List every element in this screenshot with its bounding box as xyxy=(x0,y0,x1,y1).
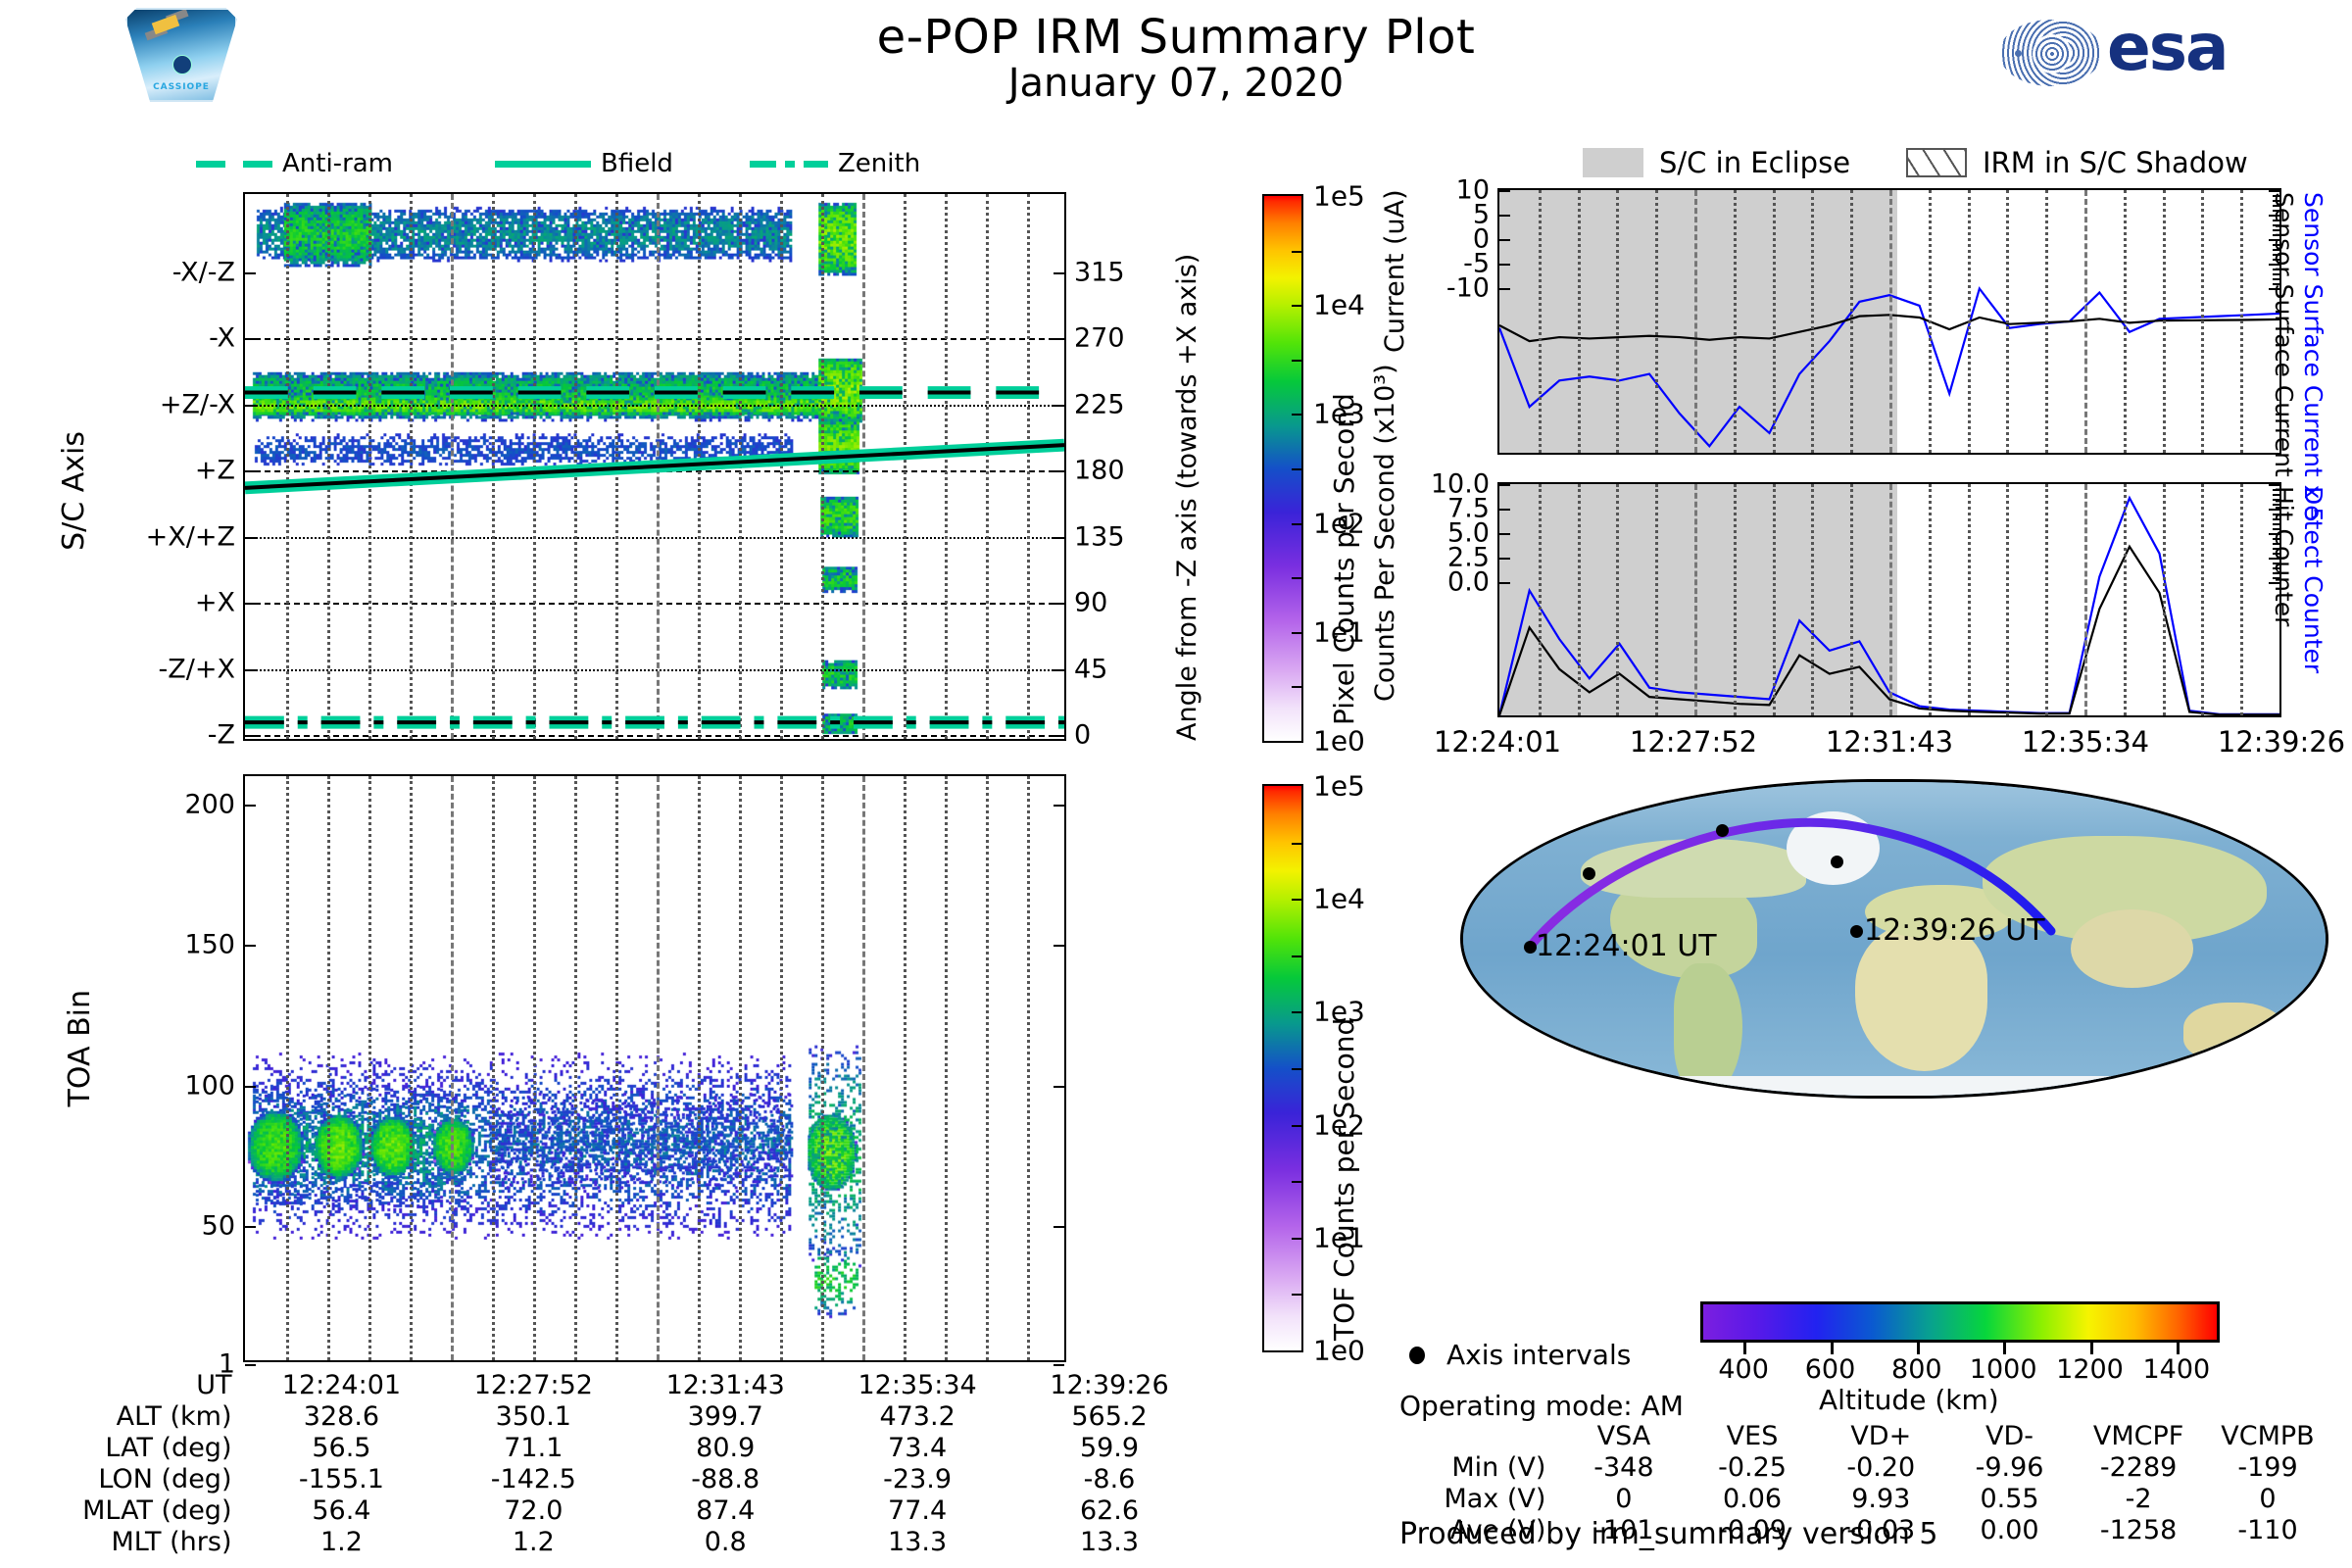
toa-vgrid-10 xyxy=(657,776,660,1360)
toaCbar-minor-4 xyxy=(1292,1294,1301,1296)
altitude-tick-3 xyxy=(2003,1343,2006,1354)
angleCbar-minor-3 xyxy=(1292,577,1301,579)
voltage-row-label: Max (V) xyxy=(1401,1484,1559,1515)
counts-vgrid-12 xyxy=(1968,484,1971,715)
current-vgrid-4 xyxy=(1655,190,1658,453)
track-point-2 xyxy=(1583,867,1595,880)
ephemeris-cell: -142.5 xyxy=(437,1464,629,1495)
toa-ytick-mark-r-0 xyxy=(1053,805,1064,807)
counts-xtick-label-0: 12:24:01 xyxy=(1434,725,1561,759)
angle-ytick-label-right-3: 180 xyxy=(1064,456,1125,486)
ephemeris-cell: 12:31:43 xyxy=(629,1370,821,1401)
ephemeris-row: LON (deg)-155.1-142.5-88.8-23.9-8.6 xyxy=(39,1464,1205,1495)
counts-vgrid-1 xyxy=(1539,484,1542,715)
counts-xtick-label-3: 12:35:34 xyxy=(2022,725,2149,759)
pixel-counts-colorbar: 1e51e41e31e21e11e0 xyxy=(1262,194,1303,743)
current-vgrid-19 xyxy=(2240,190,2243,453)
toaCbar-minor-3 xyxy=(1292,1181,1301,1183)
voltage-cell: 0 xyxy=(1559,1484,1688,1515)
shadow-hatch-swatch-icon xyxy=(1906,148,1967,177)
voltage-cell: -2 xyxy=(2074,1484,2203,1515)
toaCbar-tick-2 xyxy=(1292,1011,1301,1013)
toa-ytick-label-3: 50 xyxy=(202,1211,245,1242)
current-panel-ylabel: Current (uA) xyxy=(1380,186,1410,353)
produced-by-label: Produced by irm_summary version 5 xyxy=(1399,1517,1937,1551)
counts-vgrid-7 xyxy=(1773,484,1776,715)
angle-ytick-label-right-6: 45 xyxy=(1064,654,1107,684)
angleCbar-minor-2 xyxy=(1292,468,1301,470)
tof-counts-colorbar-title: TOF Counts per Second xyxy=(1328,796,1360,1341)
angle-ytick-label-3: +Z xyxy=(195,456,245,486)
angle-ytick-label-right-1: 270 xyxy=(1064,323,1125,354)
current-vgrid-7 xyxy=(1773,190,1776,453)
counts-vgrid-8 xyxy=(1811,484,1814,715)
angle-ytick-label-right-4: 135 xyxy=(1064,521,1125,552)
voltage-cell: 0.06 xyxy=(1688,1484,1816,1515)
map-start-time-label: 12:24:01 UT xyxy=(1536,929,1717,963)
toa-vgrid-11 xyxy=(698,776,701,1360)
altitude-tick-label-4: 1200 xyxy=(2056,1354,2124,1385)
mission-patch-label: CASSIOPE xyxy=(127,82,235,92)
toa-panel-ylabel: TOA Bin xyxy=(63,990,97,1106)
voltage-cell: -110 xyxy=(2203,1515,2332,1546)
voltage-cell: -1258 xyxy=(2074,1515,2203,1546)
toa-ytick-label-0: 200 xyxy=(184,789,245,819)
angle-ytick-label-5: +X xyxy=(195,588,245,618)
bfield-line-icon xyxy=(495,161,591,168)
ephemeris-cell: 13.3 xyxy=(821,1527,1013,1558)
eclipse-legend-label: S/C in Eclipse xyxy=(1659,146,1850,179)
angle-overlay-lines xyxy=(245,194,1064,739)
altitude-tick-label-0: 400 xyxy=(1718,1354,1769,1385)
angleCbar-tick-2 xyxy=(1292,414,1301,416)
voltage-cell: -348 xyxy=(1559,1452,1688,1484)
altitude-tick-0 xyxy=(1743,1343,1746,1354)
toaCbar-tick-1 xyxy=(1292,899,1301,901)
current-vgrid-6 xyxy=(1734,190,1737,453)
counts-panel-ylabel: Counts Per Second (x10³) xyxy=(1370,476,1400,702)
ephemeris-cell: 56.4 xyxy=(245,1495,437,1527)
axis-interval-dot-icon xyxy=(1409,1347,1425,1364)
voltage-column-header: VD+ xyxy=(1817,1421,1945,1452)
current-vgrid-15 xyxy=(2084,190,2087,453)
angle-ytick-label-4: +X/+Z xyxy=(146,521,245,552)
voltage-cell: -9.96 xyxy=(1945,1452,2074,1484)
toaCbar-tick-4 xyxy=(1292,1238,1301,1240)
current-vgrid-18 xyxy=(2201,190,2204,453)
voltage-header-row: VSAVESVD+VD-VMCPFVCMPB xyxy=(1401,1421,2332,1452)
ephemeris-cell: 12:39:26 xyxy=(1013,1370,1205,1401)
tof-counts-colorbar: 1e51e41e31e21e11e0 xyxy=(1262,784,1303,1352)
current-vgrid-17 xyxy=(2163,190,2166,453)
angle-heatmap-panel[interactable]: -X/-Z315-X270+Z/-X225+Z180+X/+Z135+X90-Z… xyxy=(243,192,1066,741)
counts-right-label-blue: Detect Counter xyxy=(2299,486,2327,673)
altitude-tick-label-2: 800 xyxy=(1891,1354,1942,1385)
current-vgrid-5 xyxy=(1694,190,1697,453)
axis-intervals-legend: Axis intervals xyxy=(1409,1339,1631,1371)
ephemeris-row: MLAT (deg)56.472.087.477.462.6 xyxy=(39,1495,1205,1527)
esa-logo-text: esa xyxy=(2107,16,2228,80)
ephemeris-cell: -155.1 xyxy=(245,1464,437,1495)
toa-ytick-label-1: 150 xyxy=(184,930,245,960)
ephemeris-cell: 59.9 xyxy=(1013,1433,1205,1464)
current-vgrid-3 xyxy=(1616,190,1619,453)
counts-vgrid-5 xyxy=(1694,484,1697,715)
voltage-cell: 0.00 xyxy=(1945,1515,2074,1546)
current-plot-panel[interactable]: 1050-5-10 xyxy=(1497,188,2281,455)
voltage-column-header: VSA xyxy=(1559,1421,1688,1452)
toa-ytick-mark-1 xyxy=(245,945,256,947)
ephemeris-cell: 1.2 xyxy=(437,1527,629,1558)
ephemeris-cell: 399.7 xyxy=(629,1401,821,1433)
pixel-counts-colorbar-title: Pixel Counts per Second xyxy=(1328,206,1360,725)
counts-plot-panel[interactable]: 10.07.55.02.50.0 xyxy=(1497,482,2281,717)
ephemeris-cell: -23.9 xyxy=(821,1464,1013,1495)
angle-panel-ylabel-right: Angle from -Z axis (towards +X axis) xyxy=(1172,196,1202,741)
current-vgrid-16 xyxy=(2124,190,2127,453)
counts-xtick-label-1: 12:27:52 xyxy=(1630,725,1757,759)
track-point-4 xyxy=(1831,856,1843,868)
toa-ytick-mark-r-4 xyxy=(1053,1364,1064,1366)
toa-ytick-mark-3 xyxy=(245,1226,256,1228)
ephemeris-row-label: MLT (hrs) xyxy=(39,1527,245,1558)
current-ytick-1 xyxy=(1499,215,1510,217)
altitude-tick-label-1: 600 xyxy=(1805,1354,1856,1385)
ephemeris-row-label: LAT (deg) xyxy=(39,1433,245,1464)
ephemeris-cell: 56.5 xyxy=(245,1433,437,1464)
current-vgrid-8 xyxy=(1811,190,1814,453)
toa-vgrid-19 xyxy=(1027,776,1030,1360)
ephemeris-row-label: LON (deg) xyxy=(39,1464,245,1495)
current-ytick-2 xyxy=(1499,239,1510,241)
ephemeris-row: ALT (km)328.6350.1399.7473.2565.2 xyxy=(39,1401,1205,1433)
toa-ytick-mark-0 xyxy=(245,805,256,807)
counts-xtick-label-4: 12:39:26 xyxy=(2218,725,2345,759)
toa-vgrid-6 xyxy=(492,776,495,1360)
altitude-tick-5 xyxy=(2177,1343,2180,1354)
current-vgrid-9 xyxy=(1850,190,1853,453)
voltage-column-header: VES xyxy=(1688,1421,1816,1452)
counts-vgrid-19 xyxy=(2240,484,2243,715)
legend-label-zenith: Zenith xyxy=(838,149,920,178)
toaCbar-minor-0 xyxy=(1292,843,1301,845)
angle-ytick-label-6: -Z/+X xyxy=(159,654,245,684)
current-vgrid-10 xyxy=(1889,190,1892,453)
counts-vgrid-4 xyxy=(1655,484,1658,715)
counts-ytick-2 xyxy=(1499,533,1510,535)
voltage-cell: 9.93 xyxy=(1817,1484,1945,1515)
ephemeris-cell: 565.2 xyxy=(1013,1401,1205,1433)
voltage-cell: -0.25 xyxy=(1688,1452,1816,1484)
voltage-column-header: VD- xyxy=(1945,1421,2074,1452)
legend-item-zenith: Zenith xyxy=(750,147,920,180)
toa-vgrid-4 xyxy=(410,776,413,1360)
toa-vgrid-15 xyxy=(862,776,865,1360)
ephemeris-cell: 72.0 xyxy=(437,1495,629,1527)
axis-intervals-label: Axis intervals xyxy=(1446,1339,1631,1371)
legend-item-bfield: Bfield xyxy=(495,147,673,180)
toa-vgrid-9 xyxy=(615,776,618,1360)
toa-ytick-mark-r-2 xyxy=(1053,1086,1064,1088)
current-vgrid-1 xyxy=(1539,190,1542,453)
angleCbar-tick-1 xyxy=(1292,305,1301,307)
counts-ytick-1 xyxy=(1499,509,1510,511)
voltage-corner-cell xyxy=(1401,1421,1559,1452)
toa-vgrid-13 xyxy=(780,776,783,1360)
esa-logo-icon: esa xyxy=(1989,8,2332,96)
ephemeris-cell: 473.2 xyxy=(821,1401,1013,1433)
angleCbar-label-5: 1e0 xyxy=(1301,725,1365,758)
current-right-label-black: Sensor Surface Current xyxy=(2270,192,2298,477)
voltage-column-header: VCMPB xyxy=(2203,1421,2332,1452)
toaCbar-tick-3 xyxy=(1292,1125,1301,1127)
current-ytick-0 xyxy=(1499,190,1510,192)
toaCbar-minor-1 xyxy=(1292,955,1301,957)
ephemeris-cell: 13.3 xyxy=(1013,1527,1205,1558)
zenith-line-icon xyxy=(750,161,828,168)
voltage-column-header: VMCPF xyxy=(2074,1421,2203,1452)
angle-ytick-label-1: -X xyxy=(209,323,245,354)
map-end-time-label: 12:39:26 UT xyxy=(1864,913,2045,948)
toa-vgrid-8 xyxy=(574,776,577,1360)
angle-ytick-label-right-2: 225 xyxy=(1064,389,1125,419)
ephemeris-cell: -88.8 xyxy=(629,1464,821,1495)
ephemeris-cell: 12:35:34 xyxy=(821,1370,1013,1401)
eclipse-swatch-icon xyxy=(1583,148,1643,177)
toa-vgrid-12 xyxy=(739,776,742,1360)
counts-vgrid-15 xyxy=(2084,484,2087,715)
eclipse-legend-item: S/C in Eclipse xyxy=(1583,145,1850,180)
current-vgrid-14 xyxy=(2045,190,2048,453)
current-vgrid-12 xyxy=(1968,190,1971,453)
toa-ytick-label-2: 100 xyxy=(184,1070,245,1101)
ephemeris-cell: 350.1 xyxy=(437,1401,629,1433)
counts-ytick-4 xyxy=(1499,582,1510,584)
counts-vgrid-6 xyxy=(1734,484,1737,715)
counts-vgrid-17 xyxy=(2163,484,2166,715)
toa-vgrid-1 xyxy=(286,776,289,1360)
counts-ytick-0 xyxy=(1499,484,1510,486)
angleCbar-tick-3 xyxy=(1292,523,1301,525)
ephemeris-cell: 328.6 xyxy=(245,1401,437,1433)
angle-ytick-label-right-0: 315 xyxy=(1064,257,1125,287)
angle-ytick-label-right-7: 0 xyxy=(1064,720,1091,751)
legend-label-anti-ram: Anti-ram xyxy=(282,149,393,178)
counts-vgrid-9 xyxy=(1850,484,1853,715)
voltage-row: Max (V)00.069.930.55-20 xyxy=(1401,1484,2332,1515)
toa-ytick-mark-4 xyxy=(245,1364,256,1366)
toa-vgrid-7 xyxy=(533,776,536,1360)
altitude-colorbar xyxy=(1700,1301,2220,1343)
toa-ytick-mark-r-1 xyxy=(1053,945,1064,947)
toaCbar-minor-2 xyxy=(1292,1068,1301,1070)
current-ytick-4 xyxy=(1499,288,1510,290)
counts-vgrid-14 xyxy=(2045,484,2048,715)
track-point-end xyxy=(1850,925,1863,938)
counts-vgrid-11 xyxy=(1929,484,1932,715)
counts-right-label-black: Hit Counter xyxy=(2270,486,2298,626)
ephemeris-cell: 71.1 xyxy=(437,1433,629,1464)
counts-vgrid-16 xyxy=(2124,484,2127,715)
current-vgrid-2 xyxy=(1578,190,1581,453)
ephemeris-cell: 73.4 xyxy=(821,1433,1013,1464)
ephemeris-row-label: ALT (km) xyxy=(39,1401,245,1433)
altitude-colorbar-title: Altitude (km) xyxy=(1819,1384,1999,1416)
ephemeris-cell: 12:27:52 xyxy=(437,1370,629,1401)
shadow-legend-label: IRM in S/C Shadow xyxy=(1983,146,2248,179)
counts-ylabel-4: 0.0 xyxy=(1447,567,1499,598)
angle-ytick-label-0: -X/-Z xyxy=(172,257,245,287)
altitude-tick-4 xyxy=(2090,1343,2093,1354)
angleCbar-minor-0 xyxy=(1292,251,1301,253)
altitude-tick-1 xyxy=(1831,1343,1834,1354)
toa-vgrid-18 xyxy=(986,776,989,1360)
ephemeris-cell: 62.6 xyxy=(1013,1495,1205,1527)
ephemeris-cell: 87.4 xyxy=(629,1495,821,1527)
angle-ytick-label-right-5: 90 xyxy=(1064,588,1107,618)
altitude-tick-label-3: 1000 xyxy=(1970,1354,2037,1385)
angle-panel-legend: Anti-ram Bfield Zenith xyxy=(176,147,764,180)
voltage-row: Min (V)-348-0.25-0.20-9.96-2289-199 xyxy=(1401,1452,2332,1484)
voltage-cell: 0.55 xyxy=(1945,1484,2074,1515)
ephemeris-row: UT12:24:0112:27:5212:31:4312:35:3412:39:… xyxy=(39,1370,1205,1401)
ephemeris-row: LAT (deg)56.571.180.973.459.9 xyxy=(39,1433,1205,1464)
ground-track-map[interactable]: 12:24:01 UT 12:39:26 UT xyxy=(1460,779,2328,1099)
angle-ytick-label-2: +Z/-X xyxy=(160,389,245,419)
current-vgrid-13 xyxy=(2006,190,2009,453)
ephemeris-cell: 80.9 xyxy=(629,1433,821,1464)
toa-vgrid-5 xyxy=(451,776,454,1360)
ephemeris-row-label: UT xyxy=(39,1370,245,1401)
voltage-cell: -0.20 xyxy=(1817,1452,1945,1484)
counts-vgrid-10 xyxy=(1889,484,1892,715)
ephemeris-cell: 0.8 xyxy=(629,1527,821,1558)
angle-ytick-label-7: -Z xyxy=(208,720,245,751)
toa-vgrid-16 xyxy=(904,776,906,1360)
toa-ytick-mark-r-3 xyxy=(1053,1226,1064,1228)
track-point-3 xyxy=(1716,824,1729,837)
counts-vgrid-18 xyxy=(2201,484,2204,715)
angleCbar-minor-1 xyxy=(1292,360,1301,362)
toa-vgrid-17 xyxy=(945,776,948,1360)
counts-vgrid-3 xyxy=(1616,484,1619,715)
shadow-legend-item: IRM in S/C Shadow xyxy=(1906,145,2248,180)
ephemeris-cell: 1.2 xyxy=(245,1527,437,1558)
legend-label-bfield: Bfield xyxy=(601,149,673,178)
counts-vgrid-13 xyxy=(2006,484,2009,715)
current-right-label-blue: Sensor Surface Current x 5 xyxy=(2299,192,2327,522)
toa-vgrid-3 xyxy=(368,776,371,1360)
ephemeris-row-label: MLAT (deg) xyxy=(39,1495,245,1527)
voltage-cell: -199 xyxy=(2203,1452,2332,1484)
counts-xtick-label-2: 12:31:43 xyxy=(1826,725,1953,759)
altitude-tick-2 xyxy=(1917,1343,1920,1354)
current-ytick-3 xyxy=(1499,264,1510,266)
ephemeris-row: MLT (hrs)1.21.20.813.313.3 xyxy=(39,1527,1205,1558)
voltage-cell: -2289 xyxy=(2074,1452,2203,1484)
current-vgrid-11 xyxy=(1929,190,1932,453)
ephemeris-cell: 12:24:01 xyxy=(245,1370,437,1401)
current-ylabel-4: -10 xyxy=(1446,273,1499,304)
angleCbar-tick-4 xyxy=(1292,632,1301,634)
voltage-cell: 0 xyxy=(2203,1484,2332,1515)
ephemeris-table: UT12:24:0112:27:5212:31:4312:35:3412:39:… xyxy=(39,1370,1205,1558)
legend-item-anti-ram: Anti-ram xyxy=(196,147,393,180)
counts-ytick-3 xyxy=(1499,558,1510,560)
counts-vgrid-2 xyxy=(1578,484,1581,715)
toa-vgrid-2 xyxy=(327,776,330,1360)
toa-heatmap-panel[interactable]: 200150100501 xyxy=(243,774,1066,1362)
angle-panel-ylabel-left: S/C Axis xyxy=(57,431,91,551)
cassiope-mission-patch-icon: CASSIOPE xyxy=(125,8,233,98)
ephemeris-cell: 77.4 xyxy=(821,1495,1013,1527)
angleCbar-minor-4 xyxy=(1292,686,1301,688)
voltage-row-label: Min (V) xyxy=(1401,1452,1559,1484)
operating-mode-label: Operating mode: AM xyxy=(1399,1390,1684,1422)
altitude-tick-label-5: 1400 xyxy=(2142,1354,2210,1385)
toa-vgrid-14 xyxy=(821,776,824,1360)
anti-ram-line-icon xyxy=(196,161,272,168)
ephemeris-cell: -8.6 xyxy=(1013,1464,1205,1495)
toa-ytick-mark-2 xyxy=(245,1086,256,1088)
